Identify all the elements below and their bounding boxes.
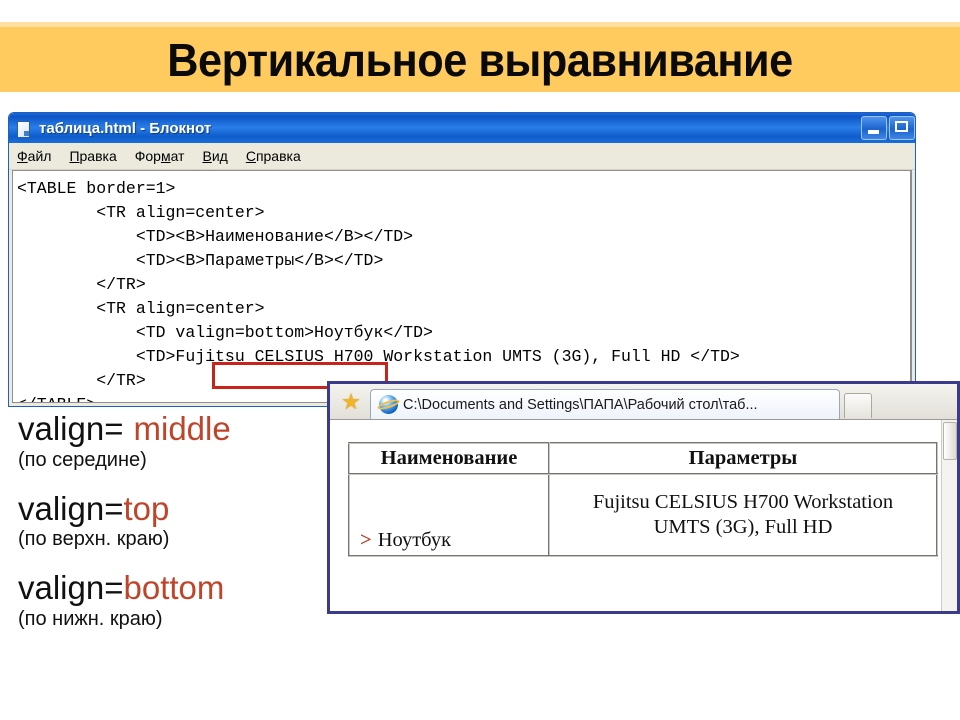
- legend-entry-bottom: valign=bottom (по нижн. краю): [18, 571, 328, 631]
- new-tab-button[interactable]: [844, 393, 872, 418]
- maximize-icon: [895, 121, 908, 132]
- notepad-menubar: Файл Правка Формат Вид Справка: [9, 143, 915, 170]
- browser-tab[interactable]: C:\Documents and Settings\ПАПА\Рабочий с…: [370, 389, 840, 419]
- notepad-title-text: таблица.html - Блокнот: [39, 120, 211, 137]
- legend-main-top: valign=top: [18, 492, 328, 527]
- legend-main-middle: valign=middle: [18, 412, 328, 447]
- legend-value-top: top: [124, 490, 170, 527]
- slide-canvas: Вертикальное выравнивание таблица.html -…: [0, 0, 960, 720]
- notepad-titlebar[interactable]: таблица.html - Блокнот: [9, 113, 915, 143]
- browser-tab-strip: ★ C:\Documents and Settings\ПАПА\Рабочий…: [330, 384, 957, 420]
- table-cell-name-text: Ноутбук: [378, 529, 451, 551]
- notepad-window: таблица.html - Блокнот Файл Правка Форма…: [8, 112, 916, 407]
- page-title: Вертикальное выравнивание: [29, 27, 931, 92]
- menu-item-file[interactable]: Файл: [17, 148, 51, 164]
- table-row: Наименование Параметры: [349, 443, 937, 474]
- window-controls: [861, 116, 915, 140]
- legend-value-middle: middle: [134, 410, 231, 447]
- alignment-marker-icon: >: [360, 529, 372, 551]
- html-source-code: <TABLE border=1> <TR align=center> <TD><…: [13, 171, 910, 403]
- menu-item-help[interactable]: Справка: [246, 148, 301, 164]
- valign-legend: valign=middle (по середине) valign=top (…: [18, 412, 328, 651]
- table-row: >Ноутбук Fujitsu CELSIUS H700 Workstatio…: [349, 474, 937, 556]
- browser-tab-label: C:\Documents and Settings\ПАПА\Рабочий с…: [403, 397, 758, 413]
- menu-item-format[interactable]: Формат: [135, 148, 185, 164]
- legend-entry-top: valign=top (по верхн. краю): [18, 492, 328, 552]
- minimize-button[interactable]: [861, 116, 887, 140]
- table-cell-params: Fujitsu CELSIUS H700 Workstation UMTS (3…: [549, 474, 937, 556]
- browser-window: ★ C:\Documents and Settings\ПАПА\Рабочий…: [327, 381, 960, 614]
- table-header-params: Параметры: [549, 443, 937, 474]
- legend-value-bottom: bottom: [124, 569, 225, 606]
- table-header-name: Наименование: [349, 443, 549, 474]
- params-line-1: Fujitsu CELSIUS H700 Workstation: [593, 491, 893, 513]
- menu-item-view[interactable]: Вид: [202, 148, 227, 164]
- maximize-button[interactable]: [889, 116, 915, 140]
- minimize-icon: [868, 130, 879, 134]
- browser-scrollbar[interactable]: [941, 420, 957, 611]
- table-cell-name: >Ноутбук: [349, 474, 549, 556]
- legend-note-bottom: (по нижн. краю): [18, 608, 328, 631]
- legend-entry-middle: valign=middle (по середине): [18, 412, 328, 472]
- rendered-html-table: Наименование Параметры >Ноутбук Fujitsu …: [348, 442, 938, 557]
- star-icon[interactable]: ★: [336, 387, 366, 417]
- legend-note-middle: (по середине): [18, 449, 328, 472]
- scrollbar-thumb[interactable]: [943, 422, 957, 460]
- internet-explorer-icon: [379, 395, 398, 414]
- title-banner: Вертикальное выравнивание: [0, 22, 960, 92]
- browser-content: Наименование Параметры >Ноутбук Fujitsu …: [330, 420, 957, 611]
- legend-main-bottom: valign=bottom: [18, 571, 328, 606]
- notepad-document-icon: [15, 120, 32, 137]
- legend-note-top: (по верхн. краю): [18, 528, 328, 551]
- menu-item-edit[interactable]: Правка: [69, 148, 116, 164]
- params-line-2: UMTS (3G), Full HD: [654, 516, 833, 538]
- notepad-text-area[interactable]: <TABLE border=1> <TR align=center> <TD><…: [12, 170, 912, 403]
